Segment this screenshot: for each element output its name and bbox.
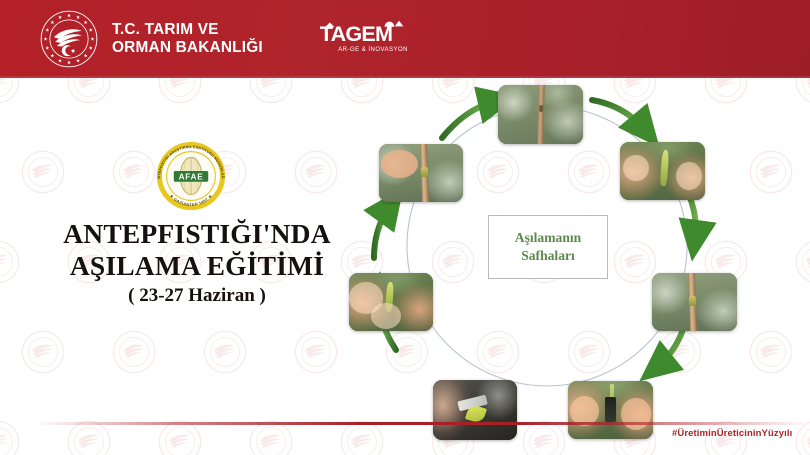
watermark-emblem-icon xyxy=(249,78,293,104)
cycle-center-label-line2: Safhaları xyxy=(521,247,575,265)
watermark-emblem-icon xyxy=(67,78,111,104)
grafted-stem-closeup-photo xyxy=(652,273,737,331)
watermark-emblem-icon xyxy=(21,150,65,194)
footer-divider xyxy=(36,422,810,425)
page-title-dates: ( 23-27 Haziran ) xyxy=(22,283,372,309)
watermark-emblem-icon xyxy=(0,240,20,284)
photo-step-4[interactable] xyxy=(568,381,653,439)
ministry-name: T.C. TARIM VEORMAN BAKANLIĞI xyxy=(112,21,263,57)
watermark-emblem-icon xyxy=(158,78,202,104)
watermark-emblem-icon xyxy=(67,420,111,455)
footer-hashtag: #ÜretiminÜreticininYüzyılı xyxy=(672,428,792,439)
photo-step-2[interactable] xyxy=(620,142,705,200)
ministry-name-line1: T.C. TARIM VE xyxy=(112,21,219,38)
hands-fitting-bud-photo xyxy=(349,273,433,331)
watermark-emblem-icon xyxy=(249,420,293,455)
cycle-center-label-line1: Aşılamanın xyxy=(515,229,581,247)
watermark-emblem-icon xyxy=(158,420,202,455)
hands-wrapping-graft-photo xyxy=(568,381,653,439)
turkish-ministry-emblem-icon xyxy=(40,10,98,68)
watermark-emblem-icon xyxy=(0,78,20,104)
ministry-name-line2: ORMAN BAKANLIĞI xyxy=(112,39,263,56)
svg-text:AFAE: AFAE xyxy=(179,172,204,181)
photo-step-5[interactable] xyxy=(433,380,517,440)
knife-cutting-bud-photo xyxy=(433,380,517,440)
hands-holding-scion-bud-photo xyxy=(620,142,705,200)
svg-text:AR-GE & İNOVASYON: AR-GE & İNOVASYON xyxy=(338,46,408,53)
presentation-slide: T.C. TARIM VEORMAN BAKANLIĞI TAGEM AR-GE… xyxy=(0,0,810,455)
watermark-emblem-icon xyxy=(795,420,810,455)
watermark-emblem-icon xyxy=(21,330,65,374)
header-band: T.C. TARIM VEORMAN BAKANLIĞI TAGEM AR-GE… xyxy=(0,0,810,78)
tagem-logo: TAGEM AR-GE & İNOVASYON xyxy=(319,16,411,60)
watermark-emblem-icon xyxy=(795,78,810,104)
graft-stages-cycle-diagram: Aşılamanın Safhaları xyxy=(330,78,770,455)
watermark-emblem-icon xyxy=(203,330,247,374)
photo-step-6[interactable] xyxy=(349,273,433,331)
watermark-emblem-icon xyxy=(0,420,20,455)
watermark-emblem-icon xyxy=(795,240,810,284)
cycle-center-label: Aşılamanın Safhaları xyxy=(488,215,608,279)
photo-step-7[interactable] xyxy=(379,144,463,202)
page-title: ANTEPFISTIĞI'NDA AŞILAMA EĞİTİMİ ( 23-27… xyxy=(22,218,372,308)
page-title-line2: AŞILAMA EĞİTİMİ xyxy=(22,250,372,282)
pistachio-seedling-stem-photo xyxy=(498,85,583,144)
photo-step-1[interactable] xyxy=(498,85,583,144)
watermark-emblem-icon xyxy=(112,330,156,374)
afae-institute-seal-icon: AFAE ANTEPFISTIĞI ARAŞTIRMA ENSTİTÜSÜ MÜ… xyxy=(148,140,234,212)
photo-step-3[interactable] xyxy=(652,273,737,331)
hand-on-rootstock-photo xyxy=(379,144,463,202)
page-title-line1: ANTEPFISTIĞI'NDA xyxy=(22,218,372,250)
